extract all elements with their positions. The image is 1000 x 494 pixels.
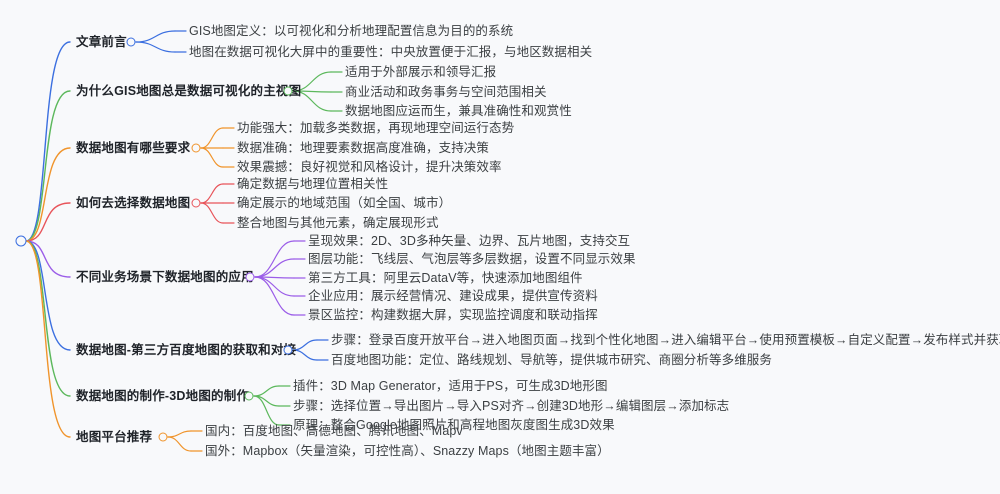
branch-label-branch-3d-map[interactable]: 数据地图的制作-3D地图的制作 (76, 390, 249, 403)
leaf-label-branch-requirements-1[interactable]: 数据准确：地理要素数据高度准确，支持决策 (237, 142, 489, 155)
trunk-edge-branch-platforms (26, 241, 70, 437)
leaf-edge-branch-how-to-choose-2 (201, 203, 223, 223)
leaf-label-branch-preface-0[interactable]: GIS地图定义：以可视化和分析地理配置信息为目的的系统 (189, 25, 513, 38)
leaf-edge-branch-preface-1 (136, 42, 175, 52)
branch-node-dot-branch-why-gis[interactable] (284, 87, 293, 96)
branch-label-branch-platforms[interactable]: 地图平台推荐 (76, 431, 152, 444)
leaf-label-branch-3d-map-1[interactable]: 步骤：选择位置→导出图片→导入PS对齐→创建3D地形→编辑图层→添加标志 (293, 400, 729, 413)
leaf-label-branch-why-gis-2[interactable]: 数据地图应运而生，兼具准确性和观赏性 (345, 105, 572, 118)
leaf-edge-branch-3d-map-2 (254, 396, 279, 425)
leaf-label-branch-platforms-1[interactable]: 国外：Mapbox（矢量渲染，可控性高）、Snazzy Maps（地图主题丰富） (205, 445, 610, 458)
leaf-edge-branch-applications-1 (255, 259, 294, 277)
mindmap-canvas: 文章前言GIS地图定义：以可视化和分析地理配置信息为目的的系统地图在数据可视化大… (0, 0, 1000, 494)
trunk-edge-branch-how-to-choose (26, 203, 70, 241)
leaf-label-branch-how-to-choose-1[interactable]: 确定展示的地域范围（如全国、城市） (237, 197, 451, 210)
trunk-edge-branch-applications (26, 241, 70, 277)
leaf-label-branch-baidu-map-0[interactable]: 步骤：登录百度开放平台→进入地图页面→找到个性化地图→进入编辑平台→使用预置模板… (331, 334, 1000, 347)
leaf-edge-branch-applications-3 (255, 277, 294, 296)
leaf-label-branch-baidu-map-1[interactable]: 百度地图功能：定位、路线规划、导航等，提供城市研究、商圈分析等多维服务 (331, 354, 772, 367)
trunk-edge-branch-baidu-map (26, 241, 70, 350)
branch-label-branch-how-to-choose[interactable]: 如何去选择数据地图 (76, 197, 190, 210)
leaf-label-branch-applications-1[interactable]: 图层功能：飞线层、气泡层等多层数据，设置不同显示效果 (308, 253, 636, 266)
leaf-edge-branch-baidu-map-0 (293, 340, 317, 350)
leaf-edge-branch-requirements-2 (201, 148, 223, 167)
branch-node-dot-branch-how-to-choose[interactable] (192, 199, 201, 208)
trunk-edge-branch-3d-map (26, 241, 70, 396)
leaf-edge-branch-applications-4 (255, 277, 294, 315)
leaf-label-branch-applications-0[interactable]: 呈现效果：2D、3D多种矢量、边界、瓦片地图，支持交互 (308, 235, 630, 248)
leaf-edge-branch-requirements-0 (201, 128, 223, 148)
leaf-label-branch-why-gis-0[interactable]: 适用于外部展示和领导汇报 (345, 66, 496, 79)
leaf-label-branch-how-to-choose-0[interactable]: 确定数据与地理位置相关性 (237, 178, 388, 191)
leaf-edge-branch-how-to-choose-0 (201, 184, 223, 203)
leaf-label-branch-3d-map-0[interactable]: 插件：3D Map Generator，适用于PS，可生成3D地形图 (293, 380, 608, 393)
leaf-label-branch-requirements-0[interactable]: 功能强大：加载多类数据，再现地理空间运行态势 (237, 122, 514, 135)
leaf-label-branch-applications-3[interactable]: 企业应用：展示经营情况、建设成果，提供宣传资料 (308, 290, 598, 303)
branch-label-branch-preface[interactable]: 文章前言 (76, 36, 127, 49)
branch-label-branch-requirements[interactable]: 数据地图有哪些要求 (76, 142, 190, 155)
branch-node-dot-branch-preface[interactable] (127, 38, 136, 47)
branch-label-branch-applications[interactable]: 不同业务场景下数据地图的应用 (76, 271, 254, 284)
leaf-label-branch-how-to-choose-2[interactable]: 整合地图与其他元素，确定展现形式 (237, 217, 439, 230)
branch-node-dot-branch-requirements[interactable] (192, 144, 201, 153)
leaf-edge-branch-baidu-map-1 (293, 350, 317, 360)
branch-node-dot-branch-applications[interactable] (246, 273, 255, 282)
branch-node-dot-branch-platforms[interactable] (159, 433, 168, 442)
leaf-label-branch-why-gis-1[interactable]: 商业活动和政务事务与空间范围相关 (345, 86, 547, 99)
leaf-edge-branch-3d-map-0 (254, 386, 279, 396)
leaf-edge-branch-preface-0 (136, 31, 175, 42)
leaf-label-branch-platforms-0[interactable]: 国内：百度地图、高德地图、腾讯地图、Mapv (205, 425, 463, 438)
root-node-dot[interactable] (16, 236, 27, 247)
branch-label-branch-baidu-map[interactable]: 数据地图-第三方百度地图的获取和对接 (76, 344, 296, 357)
leaf-edge-branch-platforms-1 (168, 437, 191, 451)
branch-label-branch-why-gis[interactable]: 为什么GIS地图总是数据可视化的主视图 (76, 85, 301, 98)
leaf-label-branch-applications-4[interactable]: 景区监控：构建数据大屏，实现监控调度和联动指挥 (308, 309, 598, 322)
trunk-edge-branch-why-gis (26, 91, 70, 241)
leaf-edge-branch-platforms-0 (168, 431, 191, 437)
leaf-edge-branch-3d-map-1 (254, 396, 279, 406)
branch-node-dot-branch-baidu-map[interactable] (284, 346, 293, 355)
leaf-label-branch-applications-2[interactable]: 第三方工具：阿里云DataV等，快速添加地图组件 (308, 272, 583, 285)
leaf-edge-branch-applications-0 (255, 241, 294, 277)
leaf-edge-branch-applications-2 (255, 277, 294, 278)
branch-node-dot-branch-3d-map[interactable] (245, 392, 254, 401)
trunk-edge-branch-preface (26, 42, 70, 241)
leaf-label-branch-preface-1[interactable]: 地图在数据可视化大屏中的重要性：中央放置便于汇报，与地区数据相关 (189, 46, 592, 59)
trunk-edge-branch-requirements (26, 148, 70, 241)
leaf-label-branch-requirements-2[interactable]: 效果震撼：良好视觉和风格设计，提升决策效率 (237, 161, 502, 174)
